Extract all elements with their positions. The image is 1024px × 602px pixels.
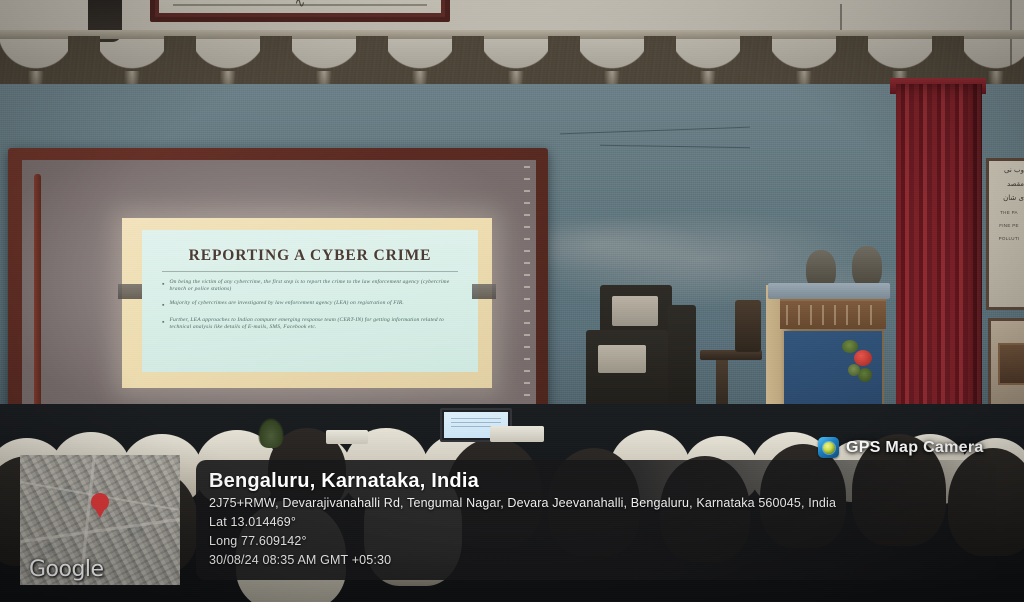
wall-notice-upper: وب نی مقصد ی شان THE PA FINE PE POLLUTI bbox=[986, 158, 1024, 310]
slide-divider bbox=[162, 271, 458, 272]
slide-bullet-item: ▪ On being the victim of any cybercrime,… bbox=[162, 279, 462, 294]
wall-sign-inner: INSTITUTIONS ∿ bbox=[159, 0, 441, 13]
capture-datetime: 30/08/24 08:35 AM GMT +05:30 bbox=[209, 551, 996, 570]
podium-flower-arrangement bbox=[840, 338, 884, 390]
podium-decorative-band bbox=[780, 299, 886, 329]
slide-bullet-text: Further, LEA approaches to Indian comput… bbox=[169, 317, 462, 332]
screen-tape-left bbox=[118, 284, 142, 299]
notice-urdu-line-3: ی شان bbox=[989, 189, 1024, 203]
gps-map-camera-logo-icon bbox=[818, 437, 839, 458]
slide-bullet-list: ▪ On being the victim of any cybercrime,… bbox=[158, 279, 462, 332]
speaker-head-right bbox=[852, 246, 882, 288]
projected-slide: REPORTING A CYBER CRIME ▪ On being the v… bbox=[122, 218, 492, 388]
notice-english-line-2: FINE PE bbox=[989, 222, 1024, 229]
location-info-panel: Bengaluru, Karnataka, India 2J75+RMW, De… bbox=[196, 460, 996, 580]
wall-sign-squiggle: ∿ bbox=[295, 0, 306, 11]
location-longitude: Long 77.609142° bbox=[209, 532, 996, 551]
slide-content-area: REPORTING A CYBER CRIME ▪ On being the v… bbox=[142, 230, 478, 372]
slide-bullet-text: Majority of cybercrimes are investigated… bbox=[169, 300, 403, 311]
bullet-marker-icon: ▪ bbox=[162, 317, 164, 332]
photo-canvas: INSTITUTIONS ∿ وب نی مقصد ی شان THE bbox=[0, 0, 1024, 602]
gps-map-camera-label: GPS Map Camera bbox=[846, 439, 984, 457]
equipment-box bbox=[735, 300, 761, 352]
location-latitude: Lat 13.014469° bbox=[209, 513, 996, 532]
screen-edge-studs bbox=[524, 166, 530, 428]
wall-sign-institutions: INSTITUTIONS ∿ bbox=[150, 0, 450, 22]
bullet-marker-icon: ▪ bbox=[162, 300, 164, 311]
notice-english-line-1: THE PA bbox=[989, 209, 1024, 216]
screen-roller-rod bbox=[34, 174, 41, 414]
slide-title: REPORTING A CYBER CRIME bbox=[158, 247, 462, 265]
gps-map-camera-watermark: GPS Map Camera bbox=[818, 437, 984, 458]
bullet-marker-icon: ▪ bbox=[162, 279, 164, 294]
podium-band-studs bbox=[786, 305, 880, 325]
chair-cushion-lower bbox=[598, 345, 646, 373]
notice-urdu-line-2: مقصد bbox=[989, 175, 1024, 189]
chair-cushion-upper bbox=[612, 296, 658, 326]
slide-bullet-item: ▪ Majority of cybercrimes are investigat… bbox=[162, 300, 462, 311]
chair-side bbox=[668, 305, 696, 417]
map-thumbnail[interactable]: Google bbox=[20, 455, 180, 585]
notice-urdu-line-1: وب نی bbox=[989, 161, 1024, 175]
potted-plant bbox=[258, 418, 284, 448]
slide-bullet-item: ▪ Further, LEA approaches to Indian comp… bbox=[162, 317, 462, 332]
projector-screen-surface: REPORTING A CYBER CRIME ▪ On being the v… bbox=[22, 160, 536, 421]
screen-tape-right bbox=[472, 284, 496, 299]
location-address: 2J75+RMW, Devarajivanahalli Rd, Tengumal… bbox=[209, 494, 996, 513]
slide-bullet-text: On being the victim of any cybercrime, t… bbox=[169, 279, 462, 294]
paper-sheet bbox=[326, 430, 368, 444]
logo-eye-icon bbox=[823, 442, 835, 454]
location-city: Bengaluru, Karnataka, India bbox=[209, 468, 996, 494]
notice-english-line-3: POLLUTI bbox=[989, 235, 1024, 242]
podium-top-surface bbox=[768, 283, 890, 299]
projector-screen-frame: REPORTING A CYBER CRIME ▪ On being the v… bbox=[8, 148, 548, 433]
paper-stack bbox=[490, 426, 544, 442]
map-pin-icon bbox=[91, 493, 109, 517]
google-attribution-label: Google bbox=[29, 557, 104, 582]
